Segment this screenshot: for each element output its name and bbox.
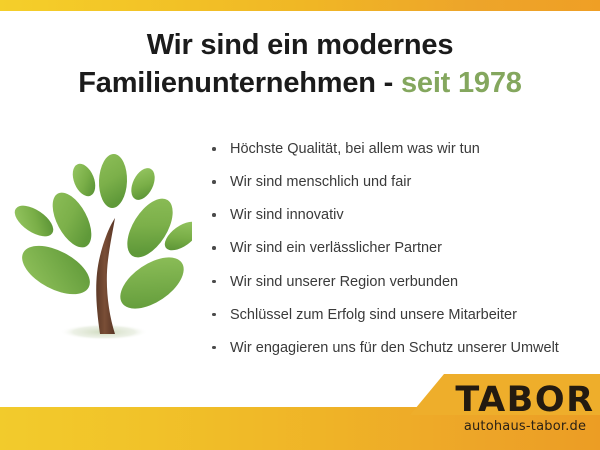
list-item: Wir sind menschlich und fair bbox=[208, 173, 593, 191]
tabor-logo-tagline: autohaus-tabor.de bbox=[455, 420, 595, 433]
list-item: Schlüssel zum Erfolg sind unsere Mitarbe… bbox=[208, 306, 593, 324]
headline-accent-year: seit 1978 bbox=[401, 67, 522, 99]
tree-illustration bbox=[12, 148, 192, 353]
list-item: Wir sind ein verlässlicher Partner bbox=[208, 239, 593, 257]
list-item: Höchste Qualität, bei allem was wir tun bbox=[208, 140, 593, 158]
top-gradient-bar bbox=[0, 0, 600, 11]
page-title: Wir sind ein modernes Familienunternehme… bbox=[0, 26, 600, 103]
headline-line-2: Familienunternehmen - seit 1978 bbox=[0, 64, 600, 102]
headline-line-2-main: Familienunternehmen - bbox=[78, 67, 401, 99]
list-item: Wir sind innovativ bbox=[208, 206, 593, 224]
headline-line-1: Wir sind ein modernes bbox=[0, 26, 600, 64]
tabor-logo-wordmark: TABOR bbox=[455, 383, 595, 418]
value-bullet-list: Höchste Qualität, bei allem was wir tun … bbox=[208, 140, 593, 372]
list-item: Wir sind unserer Region verbunden bbox=[208, 273, 593, 291]
list-item: Wir engagieren uns für den Schutz unsere… bbox=[208, 339, 593, 357]
slide-canvas: Wir sind ein modernes Familienunternehme… bbox=[0, 0, 600, 450]
tree-trunk bbox=[96, 218, 115, 334]
